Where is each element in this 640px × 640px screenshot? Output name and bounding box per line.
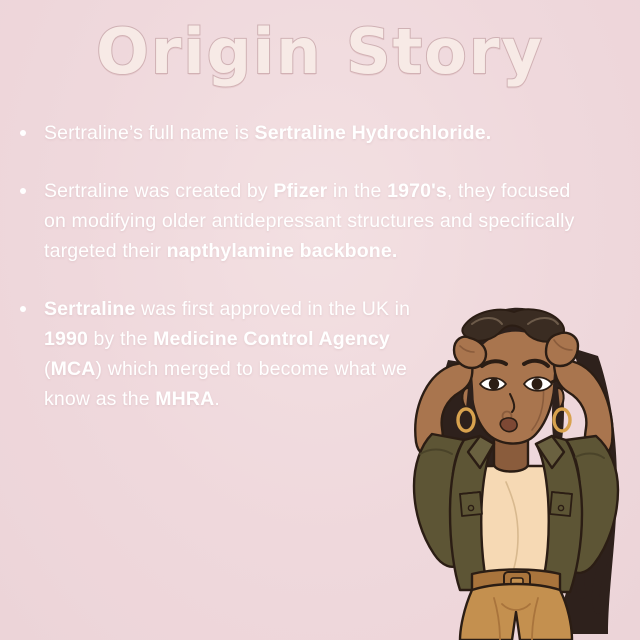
bullet-list: Sertraline’s full name is Sertraline Hyd… — [18, 118, 578, 414]
bullet-2-part-2: Pfizer — [273, 180, 327, 202]
bullet-3-part-5: Medicine Control Agency — [153, 328, 390, 350]
bullet-2-part-4: 1970's — [387, 180, 447, 202]
bullet-1-part-1: Sertraline’s full name is — [44, 122, 255, 144]
bullet-3-part-6: ( — [44, 358, 51, 380]
bullet-3-part-1: Sertraline — [44, 298, 135, 320]
bullet-dot-icon — [20, 130, 26, 136]
bullet-2-part-6: napthylamine backbone. — [167, 240, 398, 262]
list-item: Sertraline was created by Pfizer in the … — [18, 176, 578, 266]
bullet-3-part-4: by the — [88, 328, 153, 350]
bullet-dot-icon — [20, 306, 26, 312]
bullet-3-part-8: ) which merged to become what we know as… — [44, 358, 407, 410]
bullet-2-part-1: Sertraline was created by — [44, 180, 273, 202]
page-title: Origin Story — [0, 14, 640, 90]
slide-canvas: Origin Story Sertraline’s full name is S… — [0, 0, 640, 640]
bullet-3-part-10: . — [214, 388, 220, 410]
bullet-1-part-2: Sertraline Hydrochloride. — [255, 122, 492, 144]
list-item: Sertraline’s full name is Sertraline Hyd… — [18, 118, 578, 148]
bullet-dot-icon — [20, 188, 26, 194]
bullet-3-part-2: was first approved in the UK in — [135, 298, 410, 320]
bullet-2-part-3: in the — [327, 180, 387, 202]
bullet-3-part-7: MCA — [51, 358, 96, 380]
list-item: Sertraline was first approved in the UK … — [18, 294, 444, 414]
bullet-3-part-9: MHRA — [155, 388, 214, 410]
bullet-3-part-3: 1990 — [44, 328, 88, 350]
